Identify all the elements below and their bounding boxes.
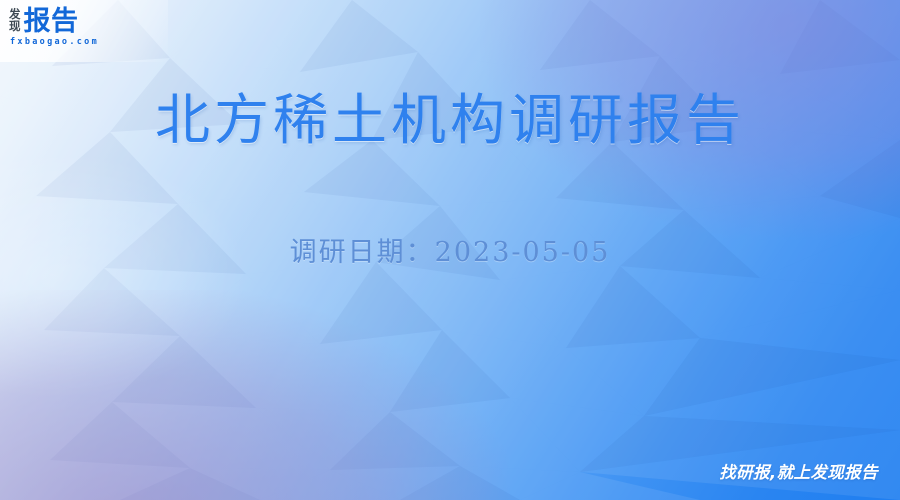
logo-stacked-characters: 发 现 <box>9 9 21 32</box>
survey-date-subtitle: 调研日期：2023-05-05 <box>0 237 900 269</box>
background-tint-mid-left <box>0 150 250 400</box>
logo-char-xian: 现 <box>9 21 21 33</box>
logo-plate: 发 现 报告 fxbaogao.com <box>0 0 168 62</box>
background-tint-bottom-left <box>0 290 510 500</box>
brand-tagline: 找研报,就上发现报告 <box>719 459 878 483</box>
brand-logo[interactable]: 发 现 报告 <box>9 8 79 35</box>
logo-wordmark: 报告 <box>24 8 79 35</box>
page-title: 北方稀土机构调研报告 <box>0 88 900 153</box>
logo-website-url: fxbaogao.com <box>10 37 99 47</box>
cover-slide: 发 现 报告 fxbaogao.com 北方稀土机构调研报告 调研日期：2023… <box>0 0 900 500</box>
